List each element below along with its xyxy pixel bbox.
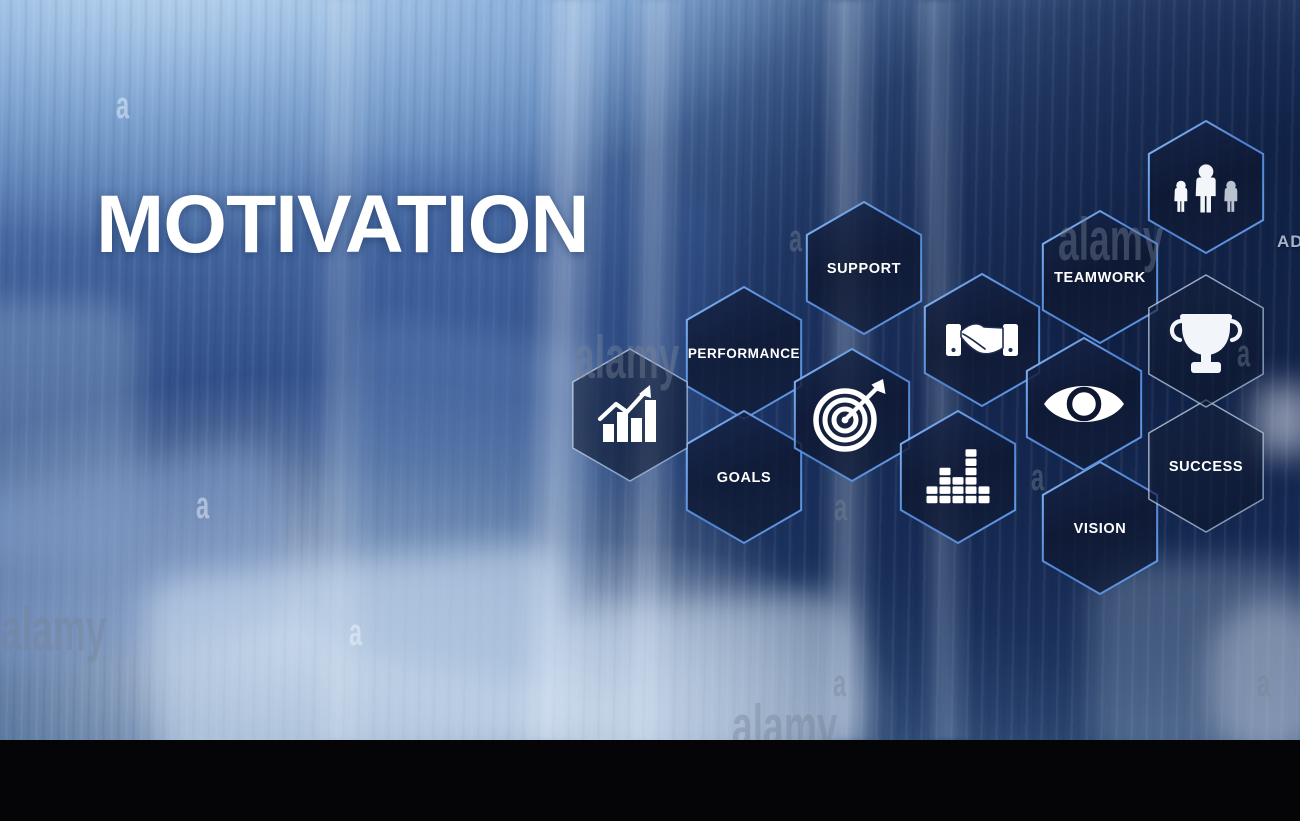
hex-cell-growth-chart[interactable] [573,349,687,481]
hexagon-svg: SUPPORTPERFORMANCEGOALSTEAMWORKVISIONSUC… [0,0,1300,740]
hex-label-support: SUPPORT [827,261,901,277]
handshake-icon [946,324,1018,356]
hexagon-infographic: SUPPORTPERFORMANCEGOALSTEAMWORKVISIONSUC… [0,0,1300,740]
hex-label-teamwork: TEAMWORK [1054,270,1146,286]
hex-label-performance: PERFORMANCE [688,346,800,361]
hex-label-vision: VISION [1074,521,1127,537]
hex-label-goals: GOALS [717,470,772,486]
hex-cell-equalizer[interactable] [901,411,1015,543]
hex-label-success: SUCCESS [1169,459,1243,475]
footer-bar: alamy Image ID: T6H65W www.alamy.com [0,740,1300,821]
edge-label-ad: AD [1277,232,1300,252]
image-canvas: MOTIVATION [0,0,1300,821]
